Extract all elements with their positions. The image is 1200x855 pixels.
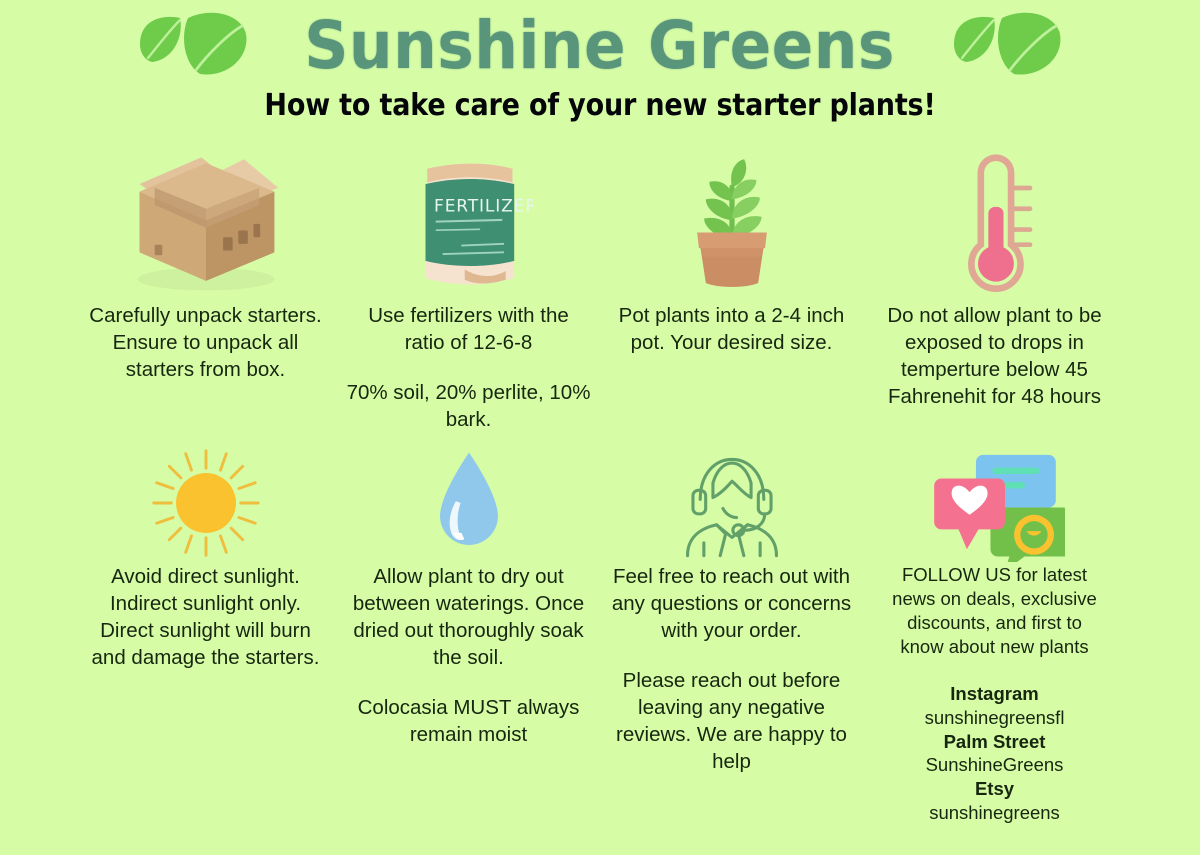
water-drop-icon xyxy=(427,443,511,563)
thermometer-icon xyxy=(943,142,1047,302)
social-handle-etsy: sunshinegreens xyxy=(929,801,1060,825)
social-bubbles-icon xyxy=(925,443,1065,563)
tile-social: FOLLOW US for latest news on deals, excl… xyxy=(867,443,1122,824)
header: Sunshine Greens How to take care of your… xyxy=(0,0,1200,142)
social-platform-etsy: Etsy xyxy=(975,777,1014,801)
tile-support-text-1: Feel free to reach out with any question… xyxy=(609,563,854,644)
page-title: Sunshine Greens xyxy=(305,13,896,79)
infographic-page: Sunshine Greens How to take care of your… xyxy=(0,0,1200,855)
tile-grid-row-1: Carefully unpack starters. Ensure to unp… xyxy=(0,142,1200,433)
title-row: Sunshine Greens xyxy=(0,0,1200,92)
social-platform-palm-street: Palm Street xyxy=(944,730,1046,754)
social-handle-instagram: sunshinegreensfl xyxy=(925,706,1065,730)
social-handle-palm-street: SunshineGreens xyxy=(926,753,1064,777)
tile-watering-text-1: Allow plant to dry out between waterings… xyxy=(346,563,591,671)
tile-support: Feel free to reach out with any question… xyxy=(604,443,859,824)
fertilizer-label-text: FERTILIZER xyxy=(434,196,533,216)
tile-grid-row-2: Avoid direct sunlight. Indirect sunlight… xyxy=(0,443,1200,824)
tile-watering: Allow plant to dry out between waterings… xyxy=(341,443,596,824)
tile-sunlight-text: Avoid direct sunlight. Indirect sunlight… xyxy=(83,563,328,671)
sun-icon xyxy=(148,443,264,563)
tile-watering-text-2: Colocasia MUST always remain moist xyxy=(346,694,591,748)
tile-temperature: Do not allow plant to be exposed to drop… xyxy=(867,142,1122,433)
customer-support-icon xyxy=(673,443,791,563)
tile-sunlight: Avoid direct sunlight. Indirect sunlight… xyxy=(78,443,333,824)
tile-fertilizer: FERTILIZER Use fertilizers with the rati… xyxy=(341,142,596,433)
tile-potting-text: Pot plants into a 2-4 inch pot. Your des… xyxy=(609,302,854,356)
tile-unpack: Carefully unpack starters. Ensure to unp… xyxy=(78,142,333,433)
tile-unpack-text: Carefully unpack starters. Ensure to unp… xyxy=(83,302,328,383)
leaf-pair-icon xyxy=(942,4,1072,90)
social-platform-instagram: Instagram xyxy=(950,682,1038,706)
tile-support-text-2: Please reach out before leaving any nega… xyxy=(609,667,854,775)
potted-plant-icon xyxy=(671,142,793,302)
leaf-pair-icon xyxy=(128,4,258,90)
tile-social-text: FOLLOW US for latest news on deals, excl… xyxy=(887,563,1102,659)
tile-potting: Pot plants into a 2-4 inch pot. Your des… xyxy=(604,142,859,433)
tile-fertilizer-text-2: 70% soil, 20% perlite, 10% bark. xyxy=(346,379,591,433)
page-subtitle: How to take care of your new starter pla… xyxy=(60,88,1140,123)
tile-fertilizer-text-1: Use fertilizers with the ratio of 12-6-8 xyxy=(346,302,591,356)
tile-temperature-text: Do not allow plant to be exposed to drop… xyxy=(872,302,1117,410)
cardboard-box-icon xyxy=(111,142,301,302)
fertilizer-bag-icon: FERTILIZER xyxy=(405,142,533,302)
